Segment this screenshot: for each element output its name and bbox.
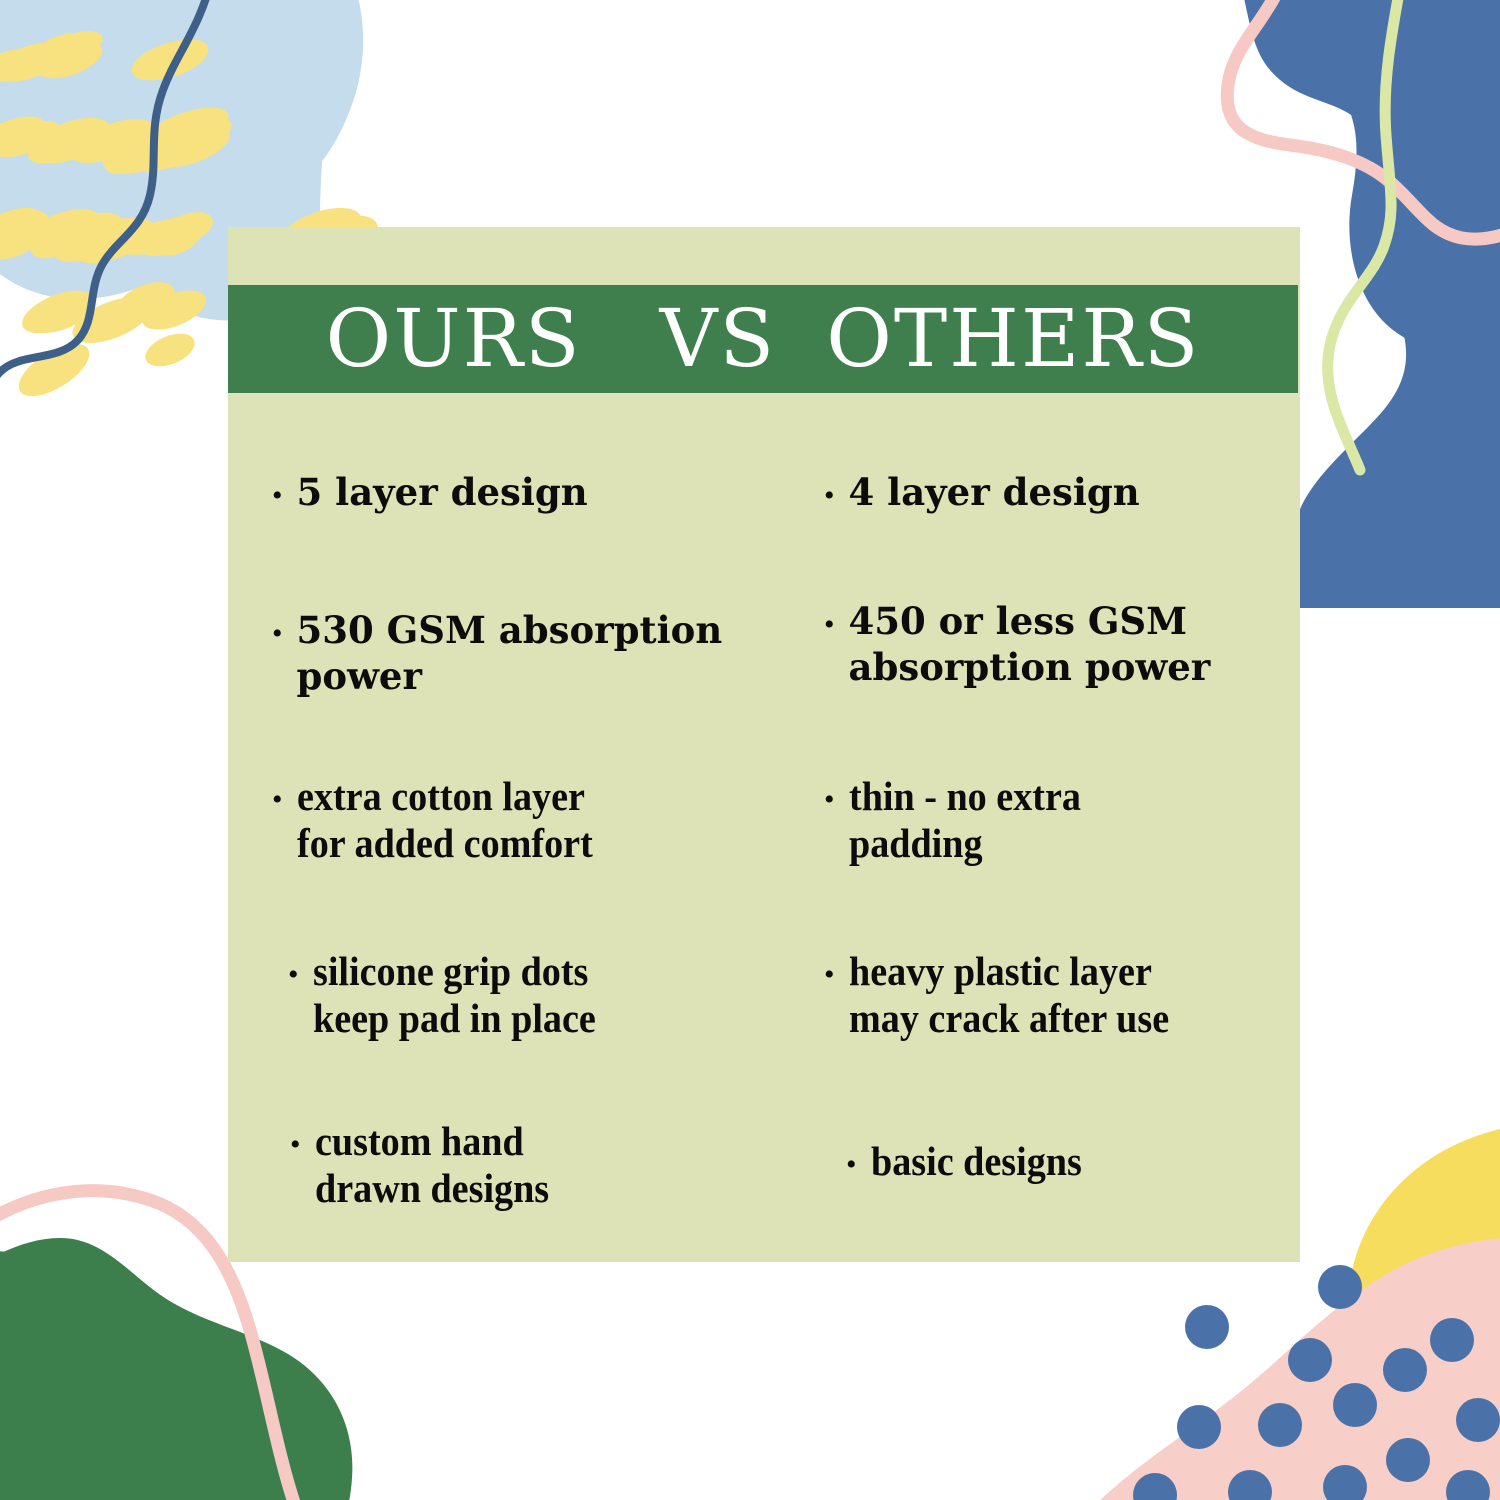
column-others: • 4 layer design • 450 or less GSM absor… — [764, 393, 1300, 1262]
top-left-yellow-dashes — [0, 25, 235, 341]
bottom-right-blue-dots — [1133, 1265, 1500, 1500]
bottom-right-yellow-blob — [1348, 1120, 1500, 1462]
list-item-label: heavy plastic layer may crack after use — [849, 948, 1169, 1042]
comparison-columns: • 5 layer design • 530 GSM absorption po… — [228, 393, 1300, 1262]
bullet-icon: • — [290, 1118, 301, 1160]
header-word-vs: VS — [660, 299, 777, 379]
list-item: • extra cotton layer for added comfort — [272, 773, 615, 867]
bullet-icon: • — [288, 948, 299, 990]
list-item-label: silicone grip dots keep pad in place — [313, 948, 596, 1042]
list-item: • heavy plastic layer may crack after us… — [824, 948, 1193, 1042]
list-item-label: basic designs — [871, 1138, 1082, 1185]
bottom-left-green-blob — [0, 1251, 325, 1500]
list-item: • silicone grip dots keep pad in place — [288, 948, 617, 1042]
panel-header: OURS VS OTHERS — [228, 285, 1298, 393]
bottom-right-pink-blob — [1068, 1238, 1500, 1500]
list-item: • 4 layer design — [824, 469, 1140, 515]
top-right-green-squiggle — [1328, 0, 1405, 470]
list-item-label: thin - no extra padding — [849, 773, 1081, 867]
page-title: OURS VS OTHERS — [326, 299, 1201, 379]
column-ours: • 5 layer design • 530 GSM absorption po… — [228, 393, 764, 1262]
bullet-icon: • — [846, 1138, 857, 1180]
list-item-label: custom hand drawn designs — [315, 1118, 549, 1212]
list-item-label: 530 GSM absorption power — [297, 607, 723, 699]
bullet-icon: • — [824, 598, 835, 640]
list-item-label: 450 or less GSM absorption power — [849, 598, 1211, 690]
bullet-icon: • — [824, 773, 835, 815]
header-word-ours: OURS — [326, 299, 582, 379]
list-item: • custom hand drawn designs — [290, 1118, 566, 1212]
bottom-left-green-blob — [0, 1238, 352, 1500]
list-item-label: 4 layer design — [849, 469, 1140, 515]
top-right-pink-squiggle — [1227, 0, 1500, 239]
list-item: • thin - no extra padding — [824, 773, 1098, 867]
top-left-navy-squiggle — [0, 0, 214, 450]
bullet-icon: • — [272, 469, 283, 511]
list-item: • basic designs — [846, 1138, 1097, 1185]
bullet-icon: • — [272, 773, 283, 815]
header-word-others: OTHERS — [826, 299, 1200, 379]
comparison-panel: OURS VS OTHERS • 5 layer design • 530 GS… — [228, 227, 1300, 1262]
bullet-icon: • — [824, 948, 835, 990]
list-item: • 530 GSM absorption power — [272, 607, 722, 699]
list-item-label: 5 layer design — [297, 469, 588, 515]
list-item: • 450 or less GSM absorption power — [824, 598, 1210, 690]
bullet-icon: • — [824, 469, 835, 511]
list-item-label: extra cotton layer for added comfort — [297, 773, 593, 867]
list-item: • 5 layer design — [272, 469, 588, 515]
bullet-icon: • — [272, 607, 283, 649]
